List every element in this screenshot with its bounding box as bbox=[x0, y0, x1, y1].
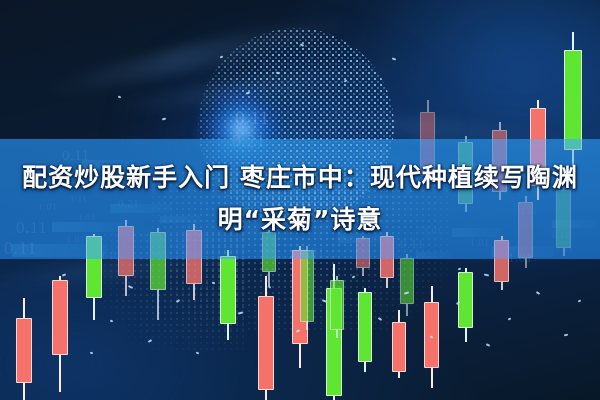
candlestick-up bbox=[458, 268, 473, 342]
particle bbox=[484, 274, 489, 277]
candlestick-down bbox=[16, 298, 32, 400]
particle bbox=[392, 57, 396, 60]
particle bbox=[536, 291, 540, 295]
candlestick-wick bbox=[59, 276, 61, 392]
candlestick-down bbox=[52, 276, 68, 392]
candlestick-wick bbox=[465, 268, 467, 342]
particle bbox=[508, 318, 512, 321]
candlestick-body bbox=[564, 50, 582, 150]
banner-image: 0.110.211.111.010.111.111.011.010.210.11… bbox=[0, 0, 600, 400]
candlestick-wick bbox=[23, 298, 25, 400]
particle bbox=[118, 95, 122, 98]
candlestick-body bbox=[16, 318, 32, 383]
headline: 配资炒股新手入门 枣庄市中：现代种植续写陶渊 明“采菊”诗意 bbox=[0, 139, 600, 259]
particle bbox=[62, 273, 66, 276]
candlestick-body bbox=[458, 272, 473, 328]
particle bbox=[196, 352, 199, 355]
particle bbox=[220, 55, 224, 58]
particle bbox=[90, 352, 93, 355]
headline-line-2: 明“采菊”诗意 bbox=[218, 200, 383, 240]
particle bbox=[162, 118, 166, 121]
candlestick-body bbox=[52, 280, 68, 355]
particle bbox=[578, 299, 582, 302]
particle bbox=[564, 334, 568, 337]
particle bbox=[458, 268, 462, 271]
headline-line-1: 配资炒股新手入门 枣庄市中：现代种植续写陶渊 bbox=[22, 158, 578, 198]
particle bbox=[430, 335, 434, 338]
particle bbox=[456, 301, 460, 305]
particle bbox=[486, 343, 490, 346]
